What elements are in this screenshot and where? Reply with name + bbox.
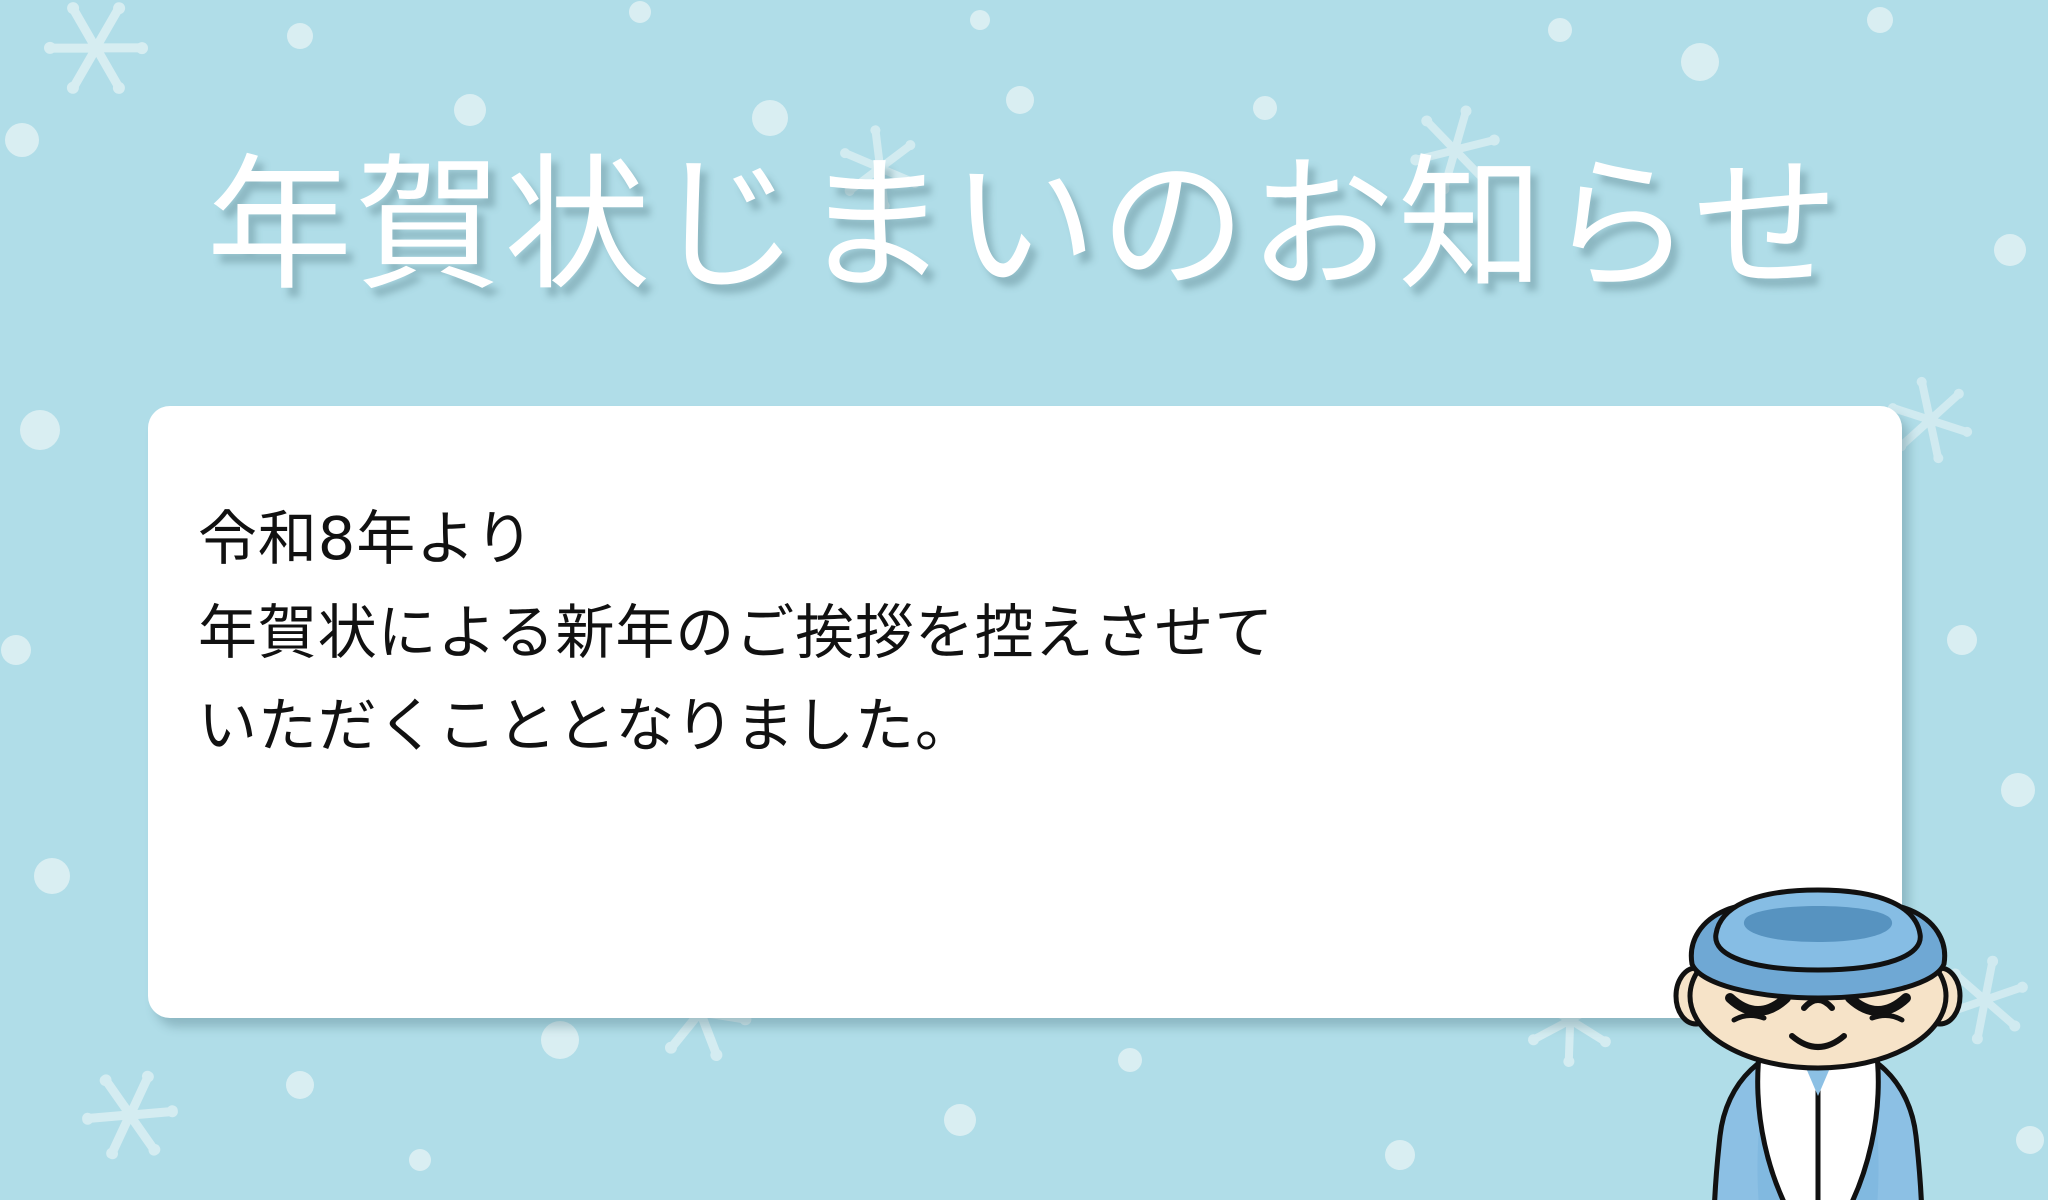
- snowflake-arm: [96, 43, 144, 52]
- snowflake-arm: [86, 1111, 131, 1123]
- snowflake-arm: [1982, 997, 2019, 1030]
- decor-dot: [287, 23, 313, 49]
- snowflake-arm: [1984, 983, 2026, 1004]
- decor-dot: [454, 94, 486, 126]
- decor-dot: [409, 1149, 431, 1171]
- snowflake-arm: [92, 46, 124, 92]
- snowflake-arm: [126, 1073, 152, 1117]
- decor-dot: [944, 1104, 976, 1136]
- snowflake-arm: [107, 1113, 133, 1157]
- decor-dot: [1681, 43, 1719, 81]
- snowflake-arm: [68, 4, 100, 50]
- decor-dot: [1947, 625, 1977, 655]
- snowflake-arm: [68, 46, 100, 92]
- snowflake-arm: [126, 1113, 158, 1154]
- decor-dot: [1006, 86, 1034, 114]
- decor-dot: [1253, 96, 1277, 120]
- decor-dot: [20, 410, 60, 450]
- snowflake-arm: [48, 43, 96, 52]
- snowflake-arm: [1929, 416, 1970, 436]
- announcement-line-1: 令和8年より: [198, 494, 1428, 584]
- snowflake-icon: [63, 1048, 197, 1182]
- decor-dot: [2001, 773, 2035, 807]
- bowing-man-icon: [1668, 868, 1968, 1200]
- decor-dot: [34, 858, 70, 894]
- announcement-text: 令和8年より 年賀状による新年のご挨拶を控えさせて いただくこととなりました。: [198, 494, 1428, 775]
- decor-dot: [1385, 1140, 1415, 1170]
- snowflake-arm: [1926, 419, 1942, 460]
- announcement-card: 令和8年より 年賀状による新年のご挨拶を控えさせて いただくこととなりました。: [148, 406, 1902, 1018]
- snowflake-arm: [1981, 959, 1997, 1001]
- decor-dot: [629, 1, 651, 23]
- decor-dot: [2016, 1126, 2044, 1154]
- snowflake-arm: [101, 1076, 133, 1117]
- announcement-line-3: いただくこととなりました。: [198, 681, 1428, 771]
- decor-dot: [1118, 1048, 1142, 1072]
- snowflake-arm: [1568, 1016, 1609, 1046]
- decor-dot: [1867, 7, 1893, 33]
- page-title: 年賀状じまいのお知らせ: [0, 150, 2048, 303]
- snowflake-arm: [92, 4, 124, 50]
- snowflake-arm: [130, 1107, 175, 1119]
- snowflake-arm: [1897, 417, 1932, 450]
- snowflake-arm: [1564, 1020, 1574, 1064]
- decor-dot: [286, 1071, 314, 1099]
- decor-dot: [1548, 18, 1572, 42]
- decor-dot: [752, 100, 788, 136]
- poster-root: 年賀状じまいのお知らせ 令和8年より 年賀状による新年のご挨拶を控えさせて いた…: [0, 0, 2048, 1200]
- snowflake-arm: [1927, 390, 1962, 423]
- announcement-line-2: 年賀状による新年のご挨拶を控えさせて: [198, 588, 1428, 678]
- decor-dot: [541, 1021, 579, 1059]
- decor-dot: [970, 10, 990, 30]
- snowflake-icon: [44, 0, 148, 100]
- snowflake-arm: [1918, 380, 1934, 421]
- decor-dot: [1, 635, 31, 665]
- snowflake-arm: [1530, 1016, 1572, 1044]
- hat-band: [1744, 906, 1892, 942]
- snowflake-arm: [1973, 999, 1989, 1041]
